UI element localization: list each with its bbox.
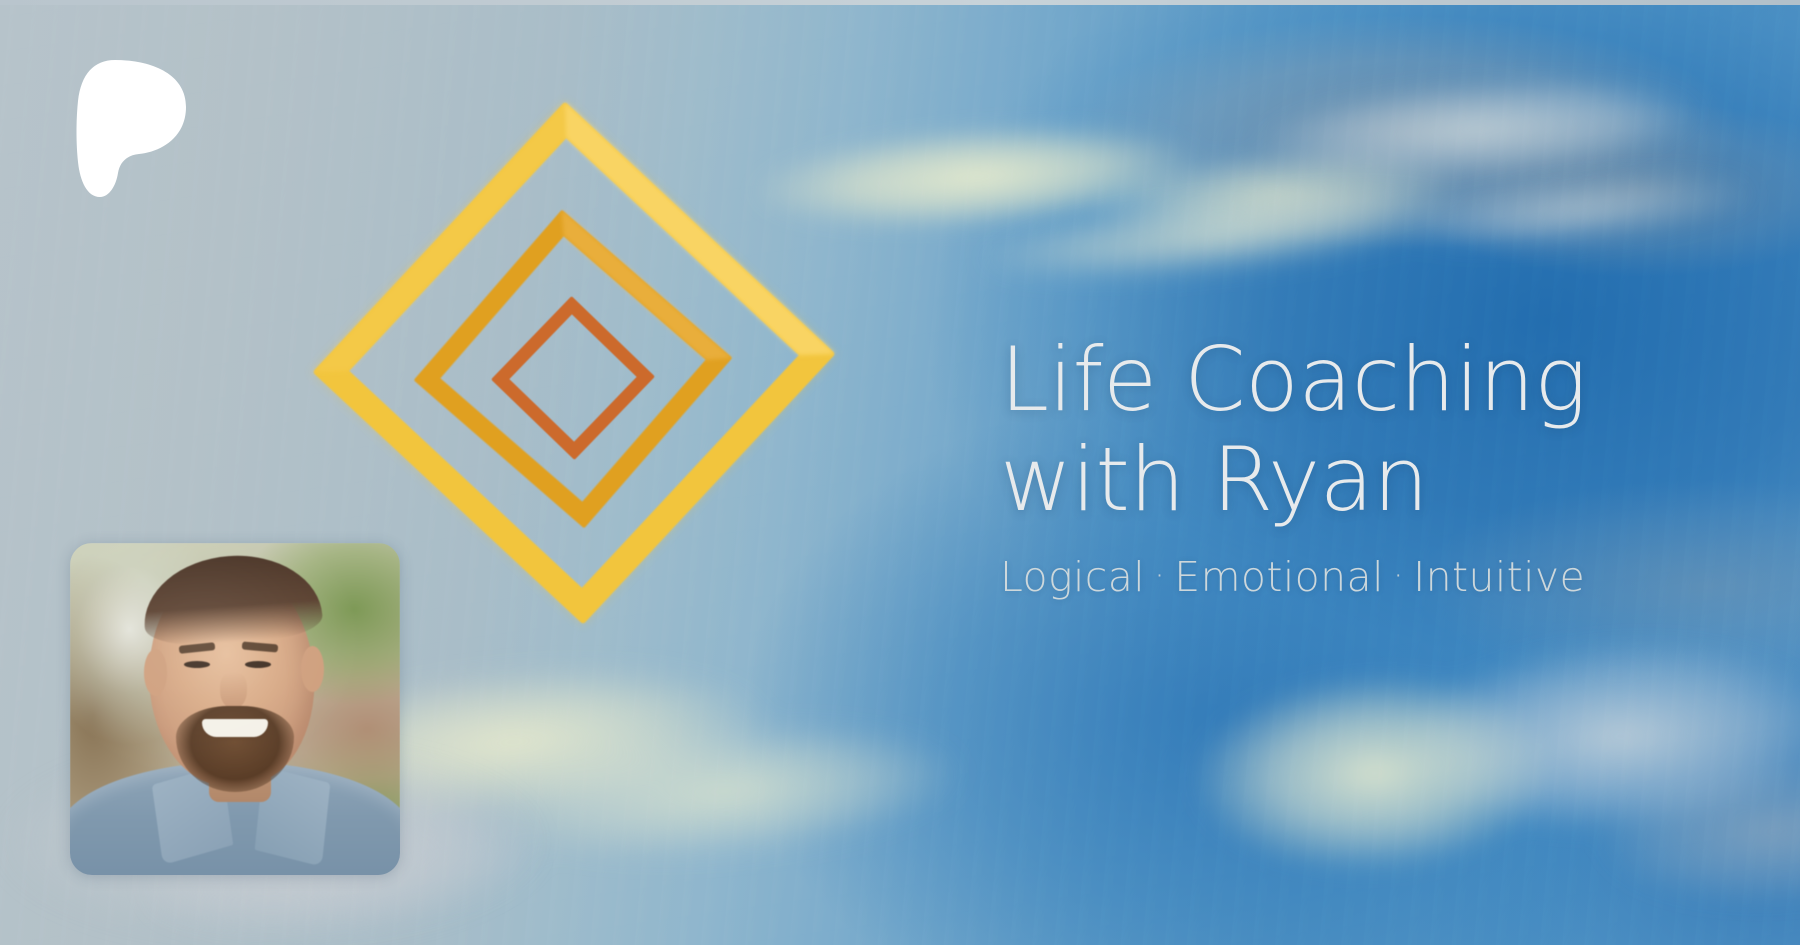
avatar-smile [202, 719, 268, 737]
avatar-ear-right [301, 646, 324, 692]
tagline-item-emotional: Emotional [1174, 553, 1384, 601]
avatar-nose [220, 672, 246, 709]
top-edge-strip [0, 0, 1800, 5]
patreon-logo[interactable] [74, 58, 192, 198]
avatar-eye-right [245, 661, 271, 668]
banner-title-line-1: Life Coaching [1000, 330, 1640, 430]
tagline-item-intuitive: Intuitive [1413, 553, 1585, 601]
banner-title-line-2: with Ryan [1000, 430, 1640, 530]
creator-avatar[interactable] [70, 543, 400, 875]
avatar-eye-left [184, 661, 210, 668]
tagline-item-logical: Logical [1000, 553, 1145, 601]
avatar-photo [70, 543, 400, 875]
nested-diamonds-logo [345, 148, 815, 618]
tagline-separator-2: · [1384, 556, 1413, 596]
banner-tagline: Logical·Emotional·Intuitive [1000, 553, 1640, 601]
banner-title-block: Life Coaching with Ryan Logical·Emotiona… [1000, 330, 1640, 601]
creator-banner-screen: Life Coaching with Ryan Logical·Emotiona… [0, 0, 1800, 945]
patreon-p-icon [74, 58, 192, 198]
avatar-hair [140, 550, 324, 649]
tagline-separator-1: · [1145, 556, 1174, 596]
